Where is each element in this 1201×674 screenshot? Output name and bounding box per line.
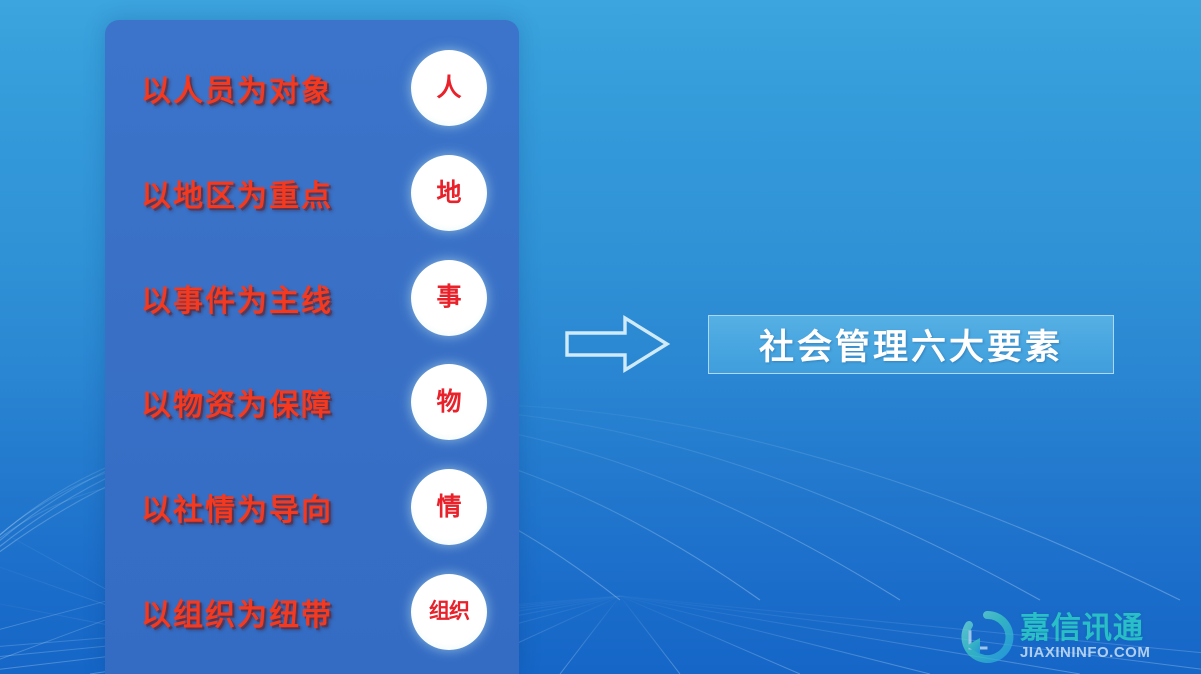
- panel-row[interactable]: 以物资为保障 物: [105, 350, 519, 455]
- row-badge-circle[interactable]: 地: [411, 155, 487, 231]
- circular-arrow-logo-icon: [958, 608, 1016, 666]
- panel-row[interactable]: 以社情为导向 情: [105, 455, 519, 560]
- row-label: 以人员为对象: [141, 66, 333, 110]
- row-label: 以事件为主线: [141, 276, 333, 320]
- watermark-text-block: 嘉信讯通 JIAXININFO.COM: [1020, 613, 1196, 662]
- six-elements-panel: 以人员为对象 人 以地区为重点 地 以事件为主线 事: [105, 20, 519, 674]
- row-label: 以物资为保障: [141, 380, 333, 424]
- row-badge-label: 人: [436, 76, 461, 101]
- row-label: 以组织为纽带: [141, 590, 333, 634]
- row-badge-label: 物: [436, 390, 461, 415]
- panel-row[interactable]: 以事件为主线 事: [105, 245, 519, 350]
- heading-title: 社会管理六大要素: [759, 319, 1063, 370]
- row-badge-circle[interactable]: 人: [411, 50, 487, 126]
- row-badge-label: 情: [436, 495, 461, 520]
- row-badge-label: 组织: [429, 601, 469, 622]
- row-badge-label: 事: [436, 285, 461, 310]
- watermark-logo: 嘉信讯通 JIAXININFO.COM: [958, 606, 1196, 668]
- panel-row-list: 以人员为对象 人 以地区为重点 地 以事件为主线 事: [105, 20, 519, 674]
- row-badge-circle[interactable]: 组织: [411, 574, 487, 650]
- heading-box: 社会管理六大要素: [708, 315, 1114, 374]
- watermark-brand-en: JIAXININFO.COM: [1020, 645, 1196, 662]
- watermark-brand-cn: 嘉信讯通: [1020, 613, 1196, 645]
- row-badge-circle[interactable]: 情: [411, 469, 487, 545]
- slide-canvas: 以人员为对象 人 以地区为重点 地 以事件为主线 事: [0, 0, 1201, 674]
- arrow-right-outline-icon: [563, 313, 671, 375]
- row-badge-circle[interactable]: 物: [411, 364, 487, 440]
- row-label: 以社情为导向: [141, 485, 333, 529]
- row-badge-circle[interactable]: 事: [411, 260, 487, 336]
- row-badge-label: 地: [436, 181, 461, 206]
- panel-row[interactable]: 以组织为纽带 组织: [105, 559, 519, 664]
- panel-row[interactable]: 以地区为重点 地: [105, 141, 519, 246]
- row-label: 以地区为重点: [141, 171, 333, 215]
- panel-row[interactable]: 以人员为对象 人: [105, 36, 519, 141]
